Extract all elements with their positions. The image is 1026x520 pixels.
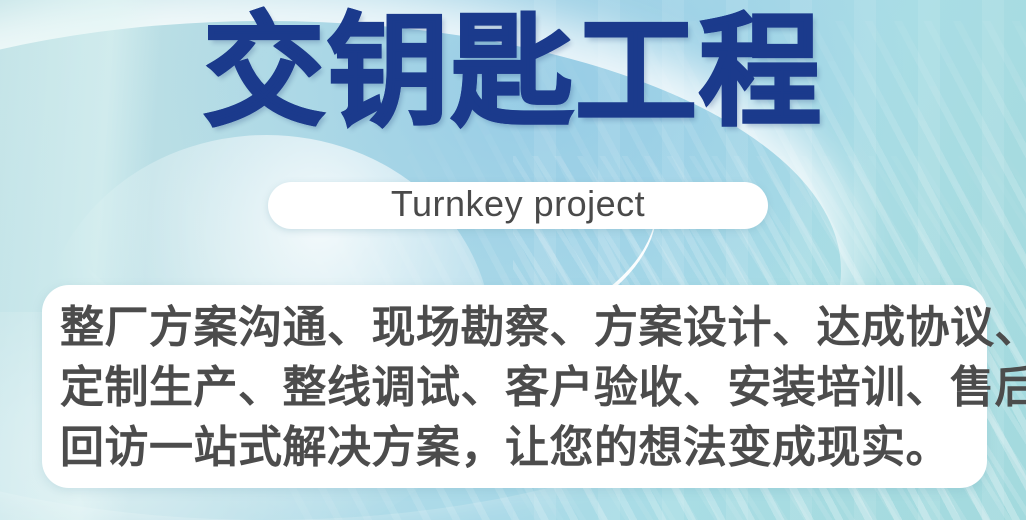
description-line-2: 定制生产、整线调试、客户验收、安装培训、售后: [60, 358, 969, 418]
description-line-3: 回访一站式解决方案，让您的想法变成现实。: [60, 418, 969, 478]
subtitle-pill: Turnkey project: [268, 182, 768, 229]
description-card: 整厂方案沟通、现场勘察、方案设计、达成协议、 定制生产、整线调试、客户验收、安装…: [42, 285, 987, 488]
subtitle-label: Turnkey project: [391, 186, 645, 225]
description-line-1: 整厂方案沟通、现场勘察、方案设计、达成协议、: [60, 298, 969, 358]
page-title: 交钥匙工程: [0, 8, 1026, 136]
turnkey-project-banner: 交钥匙工程 Turnkey project 整厂方案沟通、现场勘察、方案设计、达…: [0, 0, 1026, 520]
